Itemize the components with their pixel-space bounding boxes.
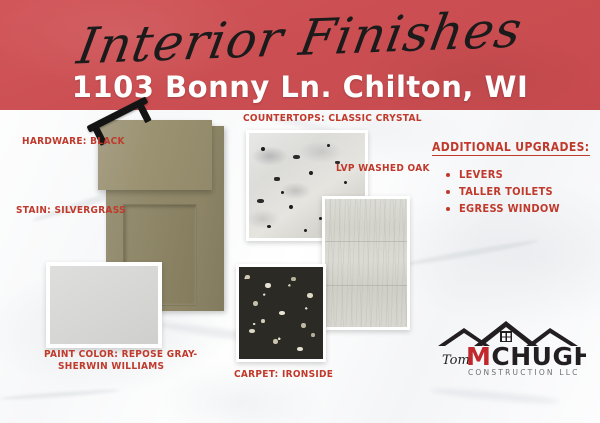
company-logo: Tom MCHUGH CONSTRUCTION LLC — [430, 312, 586, 378]
carpet-fleck — [249, 329, 255, 333]
granite-speck — [304, 229, 307, 232]
granite-speck — [289, 205, 293, 209]
carpet-fleck — [301, 323, 306, 328]
granite-speck — [344, 181, 347, 184]
plank-seam — [325, 285, 407, 286]
logo-name-initial: M — [466, 342, 491, 371]
carpet-fleck — [261, 319, 265, 323]
carpet-fleck — [307, 293, 313, 298]
carpet-fleck — [273, 339, 278, 344]
label-flooring: LVP WASHED OAK — [336, 163, 430, 175]
granite-speck — [261, 147, 265, 151]
granite-speck — [281, 191, 284, 194]
upgrade-item: EGRESS WINDOW — [446, 200, 592, 217]
granite-speck — [309, 171, 313, 175]
logo-name-rest: CHUGH — [491, 342, 586, 371]
lvp-flooring-swatch — [322, 196, 410, 330]
carpet-fleck — [279, 311, 285, 315]
granite-speck — [267, 225, 271, 228]
marble-vein — [401, 238, 540, 268]
granite-speck — [257, 199, 264, 203]
granite-speck — [274, 177, 280, 181]
paint-color-swatch — [46, 262, 162, 348]
plank-seam — [325, 241, 407, 242]
header-banner: Interior Finishes 1103 Bonny Ln. Chilton… — [0, 0, 600, 110]
label-countertops: COUNTERTOPS: CLASSIC CRYSTAL — [243, 113, 422, 125]
upgrade-item: TALLER TOILETS — [446, 183, 592, 200]
label-stain: STAIN: SILVERGRASS — [16, 205, 126, 217]
upgrades-title: ADDITIONAL UPGRADES: — [432, 140, 590, 156]
upgrade-item: LEVERS — [446, 166, 592, 183]
granite-speck — [327, 144, 330, 147]
carpet-swatch — [236, 264, 326, 362]
page-address-title: 1103 Bonny Ln. Chilton, WI — [0, 70, 600, 104]
label-paint-line1: PAINT COLOR: REPOSE GRAY- — [44, 349, 197, 361]
cabinet-drawer-front — [98, 120, 212, 190]
carpet-fleck — [311, 333, 315, 337]
additional-upgrades-block: ADDITIONAL UPGRADES: LEVERS TALLER TOILE… — [432, 138, 592, 217]
carpet-fleck — [265, 283, 271, 288]
finishes-board: Interior Finishes 1103 Bonny Ln. Chilton… — [0, 0, 600, 423]
carpet-fleck — [245, 275, 250, 279]
logo-company-name: MCHUGH — [466, 342, 586, 371]
granite-speck — [293, 155, 300, 159]
label-paint-line2: SHERWIN WILLIAMS — [58, 361, 164, 373]
marble-vein — [0, 388, 120, 401]
logo-subtitle: CONSTRUCTION LLC — [468, 368, 580, 377]
label-hardware: HARDWARE: BLACK — [22, 136, 125, 148]
marble-vein — [430, 386, 560, 405]
upgrades-list: LEVERS TALLER TOILETS EGRESS WINDOW — [446, 166, 592, 217]
carpet-fleck — [253, 301, 258, 306]
carpet-fleck — [291, 277, 296, 281]
carpet-fleck — [297, 347, 303, 351]
label-carpet: CARPET: IRONSIDE — [234, 369, 333, 381]
